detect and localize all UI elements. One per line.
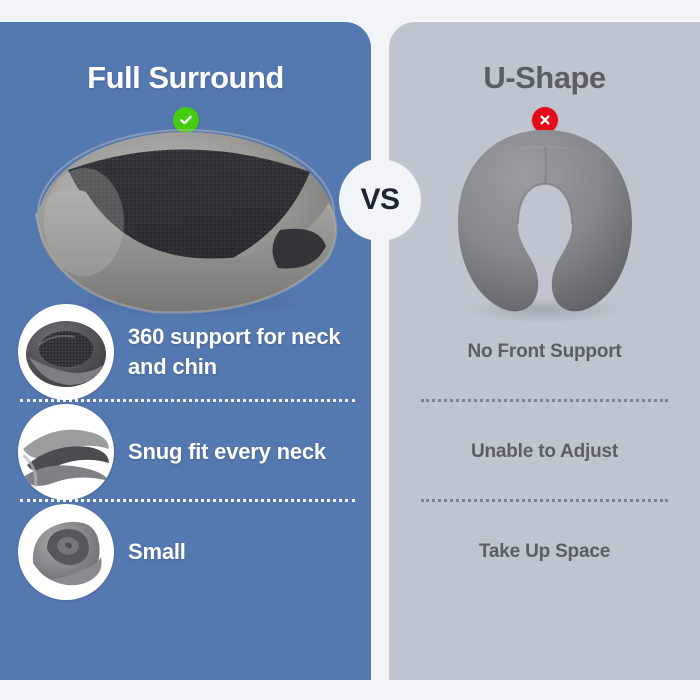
pillow-closeup-thumb: [18, 404, 114, 500]
pillow-rolled-thumb: [18, 504, 114, 600]
drawback-row: No Front Support: [389, 302, 700, 402]
u-shape-pillow-image: [452, 126, 638, 322]
full-surround-pillow-image: [28, 118, 344, 318]
pillow-top-view-thumb: [18, 304, 114, 400]
drawback-label: Take Up Space: [479, 541, 610, 563]
feature-row: Snug fit every neck: [0, 402, 371, 502]
drawback-row: Take Up Space: [389, 502, 700, 602]
u-shape-feature-list: No Front Support Unable to Adjust Take U…: [389, 302, 700, 602]
feature-row: 360 support for neck and chin: [0, 302, 371, 402]
feature-label: Snug fit every neck: [128, 437, 326, 467]
comparison-infographic: Full Surround: [0, 0, 700, 700]
drawback-row: Unable to Adjust: [389, 402, 700, 502]
feature-row: Small: [0, 502, 371, 602]
drawback-label: No Front Support: [467, 341, 621, 363]
full-surround-title: Full Surround: [0, 60, 371, 96]
u-shape-title: U-Shape: [389, 60, 700, 96]
feature-label: Small: [128, 537, 186, 567]
vs-badge: VS: [342, 162, 418, 238]
vs-label: VS: [360, 183, 399, 217]
drawback-label: Unable to Adjust: [471, 441, 618, 463]
feature-label: 360 support for neck and chin: [128, 322, 371, 383]
full-surround-feature-list: 360 support for neck and chin Snug fit e…: [0, 302, 371, 602]
